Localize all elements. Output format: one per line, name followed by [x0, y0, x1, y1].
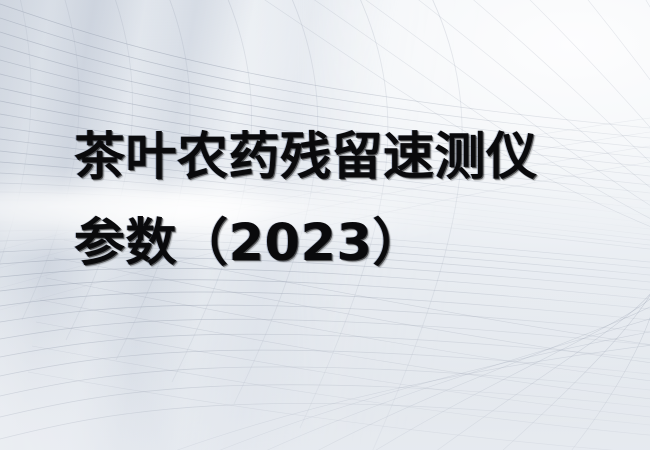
title-banner: 茶叶农药残留速测仪 参数（2023） [0, 0, 650, 450]
title-block: 茶叶农药残留速测仪 参数（2023） [74, 132, 614, 269]
page-title-line-1: 茶叶农药残留速测仪 [74, 132, 614, 183]
page-title-line-2: 参数（2023） [74, 218, 614, 269]
